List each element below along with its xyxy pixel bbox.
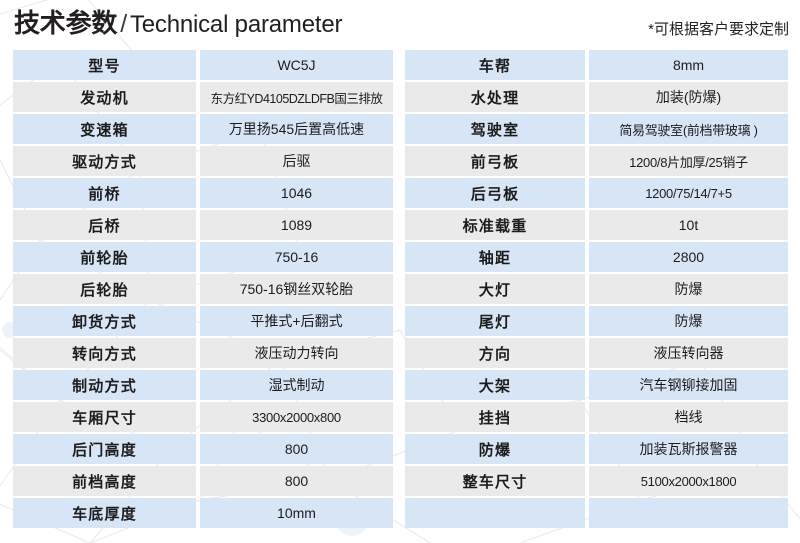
table-row: 卸货方式平推式+后翻式 bbox=[13, 305, 393, 337]
spec-value: 加装(防爆) bbox=[589, 82, 788, 112]
page-title-separator: / bbox=[117, 10, 130, 38]
table-row: 车底厚度10mm bbox=[13, 497, 393, 529]
page-title-chinese: 技术参数 bbox=[14, 8, 117, 38]
spec-value: 10t bbox=[589, 210, 788, 240]
spec-value: 档线 bbox=[589, 402, 788, 432]
table-row: 车帮8mm bbox=[405, 49, 788, 81]
spec-label: 发动机 bbox=[13, 82, 196, 112]
spec-value: 万里扬545后置高低速 bbox=[200, 114, 393, 144]
spec-value: 防爆 bbox=[589, 274, 788, 304]
spec-label: 前桥 bbox=[13, 178, 196, 208]
table-row: 标准载重10t bbox=[405, 209, 788, 241]
table-row: 后轮胎750-16钢丝双轮胎 bbox=[13, 273, 393, 305]
spec-label: 车底厚度 bbox=[13, 498, 196, 528]
spec-value: 湿式制动 bbox=[200, 370, 393, 400]
spec-value: 1200/75/14/7+5 bbox=[589, 178, 788, 208]
page-title-english: Technical parameter bbox=[130, 11, 342, 38]
spec-value: 3300x2000x800 bbox=[200, 402, 393, 432]
spec-label: 驱动方式 bbox=[13, 146, 196, 176]
spec-value: 汽车钢铆接加固 bbox=[589, 370, 788, 400]
spec-label: 尾灯 bbox=[405, 306, 585, 336]
spec-label: 车厢尺寸 bbox=[13, 402, 196, 432]
table-row: 大架汽车钢铆接加固 bbox=[405, 369, 788, 401]
table-row: 轴距2800 bbox=[405, 241, 788, 273]
table-row: 车厢尺寸3300x2000x800 bbox=[13, 401, 393, 433]
spec-label bbox=[405, 498, 585, 528]
header: 技术参数/Technical parameter *可根据客户要求定制 bbox=[0, 0, 800, 49]
table-row: 驱动方式后驱 bbox=[13, 145, 393, 177]
spec-label: 后门高度 bbox=[13, 434, 196, 464]
spec-label: 整车尺寸 bbox=[405, 466, 585, 496]
table-row: 整车尺寸5100x2000x1800 bbox=[405, 465, 788, 497]
page-title: 技术参数/Technical parameter bbox=[14, 6, 342, 42]
spec-label: 后弓板 bbox=[405, 178, 585, 208]
spec-label: 挂挡 bbox=[405, 402, 585, 432]
spec-label: 驾驶室 bbox=[405, 114, 585, 144]
spec-label: 制动方式 bbox=[13, 370, 196, 400]
spec-value: 加装瓦斯报警器 bbox=[589, 434, 788, 464]
spec-value: 简易驾驶室(前档带玻璃 ) bbox=[589, 114, 788, 144]
table-row: 后门高度800 bbox=[13, 433, 393, 465]
spec-table-right: 车帮8mm水处理加装(防爆)驾驶室简易驾驶室(前档带玻璃 )前弓板1200/8片… bbox=[405, 49, 788, 529]
spec-value: 5100x2000x1800 bbox=[589, 466, 788, 496]
spec-label: 大架 bbox=[405, 370, 585, 400]
spec-label: 方向 bbox=[405, 338, 585, 368]
spec-value: 1200/8片加厚/25销子 bbox=[589, 146, 788, 176]
table-row bbox=[405, 497, 788, 529]
spec-value: 10mm bbox=[200, 498, 393, 528]
table-row: 驾驶室简易驾驶室(前档带玻璃 ) bbox=[405, 113, 788, 145]
spec-label: 前档高度 bbox=[13, 466, 196, 496]
spec-value: 防爆 bbox=[589, 306, 788, 336]
spec-value: 平推式+后翻式 bbox=[200, 306, 393, 336]
spec-label: 标准载重 bbox=[405, 210, 585, 240]
spec-label: 变速箱 bbox=[13, 114, 196, 144]
spec-label: 前轮胎 bbox=[13, 242, 196, 272]
spec-value: 液压动力转向 bbox=[200, 338, 393, 368]
spec-value: 750-16钢丝双轮胎 bbox=[200, 274, 393, 304]
table-row: 挂挡档线 bbox=[405, 401, 788, 433]
spec-value: 1089 bbox=[200, 210, 393, 240]
table-row: 发动机东方红YD4105DZLDFB国三排放 bbox=[13, 81, 393, 113]
spec-label: 水处理 bbox=[405, 82, 585, 112]
table-row: 前桥1046 bbox=[13, 177, 393, 209]
spec-label: 前弓板 bbox=[405, 146, 585, 176]
spec-value: 液压转向器 bbox=[589, 338, 788, 368]
spec-label: 后轮胎 bbox=[13, 274, 196, 304]
table-row: 水处理加装(防爆) bbox=[405, 81, 788, 113]
table-row: 型号WC5J bbox=[13, 49, 393, 81]
spec-label: 大灯 bbox=[405, 274, 585, 304]
spec-value: 1046 bbox=[200, 178, 393, 208]
table-row: 尾灯防爆 bbox=[405, 305, 788, 337]
table-row: 前弓板1200/8片加厚/25销子 bbox=[405, 145, 788, 177]
spec-table-left: 型号WC5J发动机东方红YD4105DZLDFB国三排放变速箱万里扬545后置高… bbox=[13, 49, 393, 529]
customization-note: *可根据客户要求定制 bbox=[648, 20, 789, 40]
spec-label: 防爆 bbox=[405, 434, 585, 464]
table-row: 大灯防爆 bbox=[405, 273, 788, 305]
table-row: 变速箱万里扬545后置高低速 bbox=[13, 113, 393, 145]
spec-value: 后驱 bbox=[200, 146, 393, 176]
table-row: 后弓板1200/75/14/7+5 bbox=[405, 177, 788, 209]
table-row: 转向方式液压动力转向 bbox=[13, 337, 393, 369]
table-row: 后桥1089 bbox=[13, 209, 393, 241]
spec-label: 轴距 bbox=[405, 242, 585, 272]
spec-label: 车帮 bbox=[405, 50, 585, 80]
spec-value: 750-16 bbox=[200, 242, 393, 272]
spec-label: 转向方式 bbox=[13, 338, 196, 368]
spec-value: 东方红YD4105DZLDFB国三排放 bbox=[200, 82, 393, 112]
table-row: 前轮胎750-16 bbox=[13, 241, 393, 273]
spec-label: 后桥 bbox=[13, 210, 196, 240]
spec-label: 型号 bbox=[13, 50, 196, 80]
spec-value: 2800 bbox=[589, 242, 788, 272]
spec-value: 8mm bbox=[589, 50, 788, 80]
table-row: 前档高度800 bbox=[13, 465, 393, 497]
table-row: 制动方式湿式制动 bbox=[13, 369, 393, 401]
table-row: 方向液压转向器 bbox=[405, 337, 788, 369]
spec-value bbox=[589, 498, 788, 528]
spec-value: 800 bbox=[200, 434, 393, 464]
table-row: 防爆加装瓦斯报警器 bbox=[405, 433, 788, 465]
spec-value: WC5J bbox=[200, 50, 393, 80]
spec-value: 800 bbox=[200, 466, 393, 496]
spec-label: 卸货方式 bbox=[13, 306, 196, 336]
